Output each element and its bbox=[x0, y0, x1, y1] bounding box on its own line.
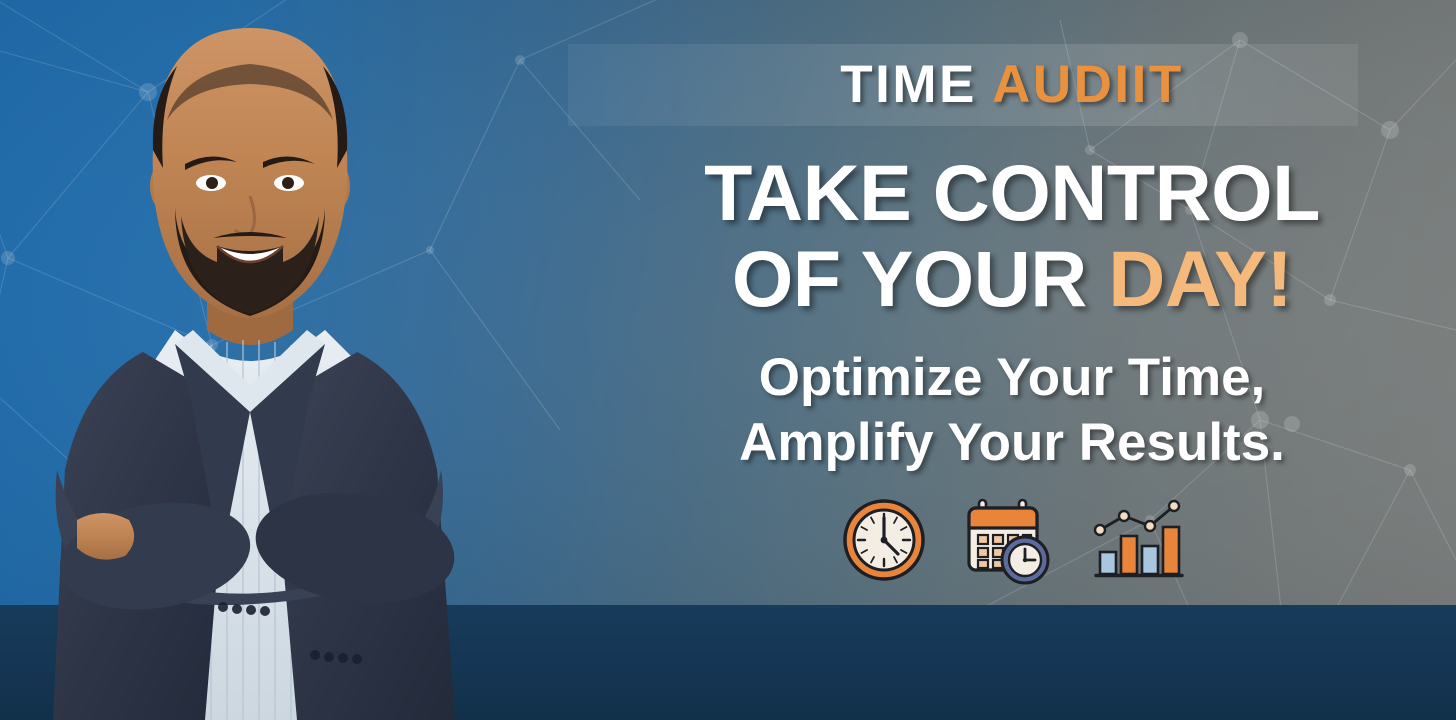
presenter-portrait bbox=[25, 0, 545, 720]
headline-line-1: TAKE CONTROL bbox=[568, 150, 1456, 236]
subheadline-line-2: Amplify Your Results. bbox=[568, 410, 1456, 475]
eyebrow-word-time: TIME bbox=[840, 55, 977, 114]
eyebrow-title: TIME AUDIIT bbox=[568, 48, 1456, 122]
calendar-clock-icon bbox=[963, 494, 1055, 591]
feature-icon-row bbox=[568, 496, 1456, 588]
promo-banner: TIME AUDIIT TAKE CONTROL OF YOUR DAY! Op… bbox=[0, 0, 1456, 720]
headline-line-2-white: OF YOUR bbox=[732, 234, 1087, 323]
bar-chart-growth-icon bbox=[1090, 496, 1184, 589]
banner-content: TIME AUDIIT TAKE CONTROL OF YOUR DAY! Op… bbox=[568, 0, 1456, 720]
headline-line-2: OF YOUR DAY! bbox=[568, 236, 1456, 322]
subheadline-line-1: Optimize Your Time, bbox=[568, 345, 1456, 410]
headline: TAKE CONTROL OF YOUR DAY! bbox=[568, 150, 1456, 322]
subheadline: Optimize Your Time, Amplify Your Results… bbox=[568, 345, 1456, 475]
eyebrow-word-audit: AUDIIT bbox=[992, 55, 1184, 114]
clock-icon bbox=[840, 496, 928, 589]
headline-accent-day: DAY! bbox=[1108, 234, 1292, 323]
